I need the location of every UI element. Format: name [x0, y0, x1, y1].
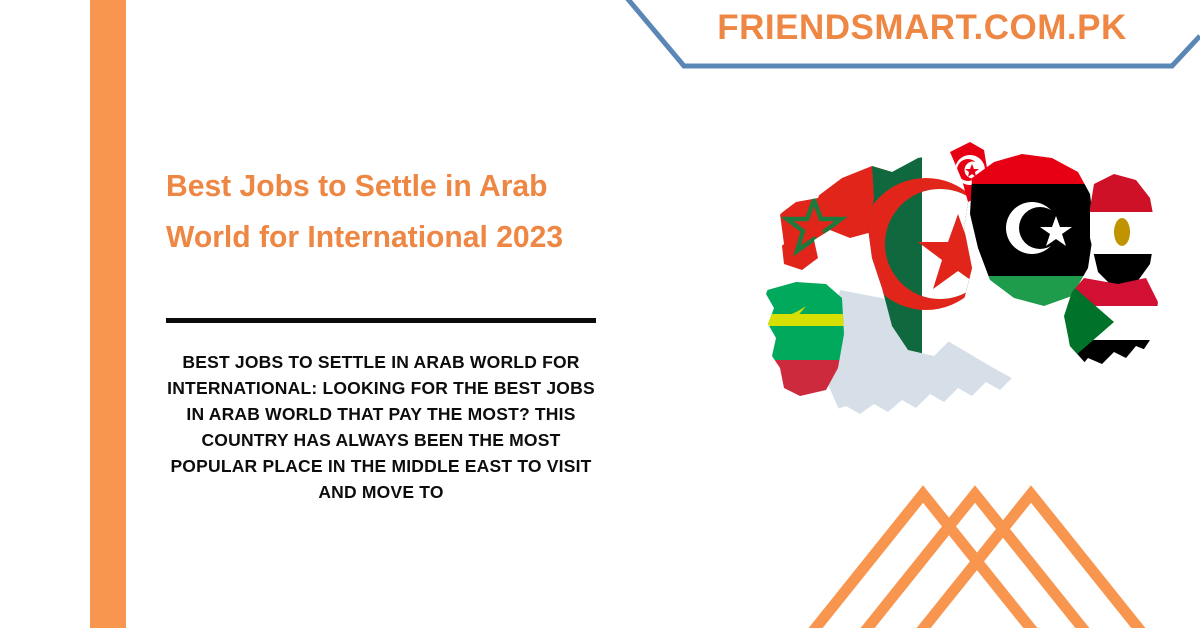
content-column: Best Jobs to Settle in Arab World for In…: [166, 160, 596, 505]
brand-name: FRIENDSMART.COM.PK: [672, 8, 1172, 48]
page-title-line-1: Best Jobs to Settle in Arab: [166, 160, 583, 211]
title-divider: [166, 318, 596, 323]
left-accent-bar: [90, 0, 126, 628]
page-blurb: BEST JOBS TO SETTLE IN ARAB WORLD FOR IN…: [166, 349, 596, 505]
brand-banner: FRIENDSMART.COM.PK: [600, 0, 1200, 80]
page-title-line-2: World for International 2023: [166, 211, 583, 262]
poster-canvas: FRIENDSMART.COM.PK Best Jobs to Settle i…: [0, 0, 1200, 628]
page-title: Best Jobs to Settle in Arab World for In…: [166, 160, 583, 262]
triple-chevron-decoration: [780, 470, 1200, 628]
arab-world-flag-map-image: [722, 118, 1192, 470]
egypt-eagle-icon: [1114, 218, 1130, 246]
